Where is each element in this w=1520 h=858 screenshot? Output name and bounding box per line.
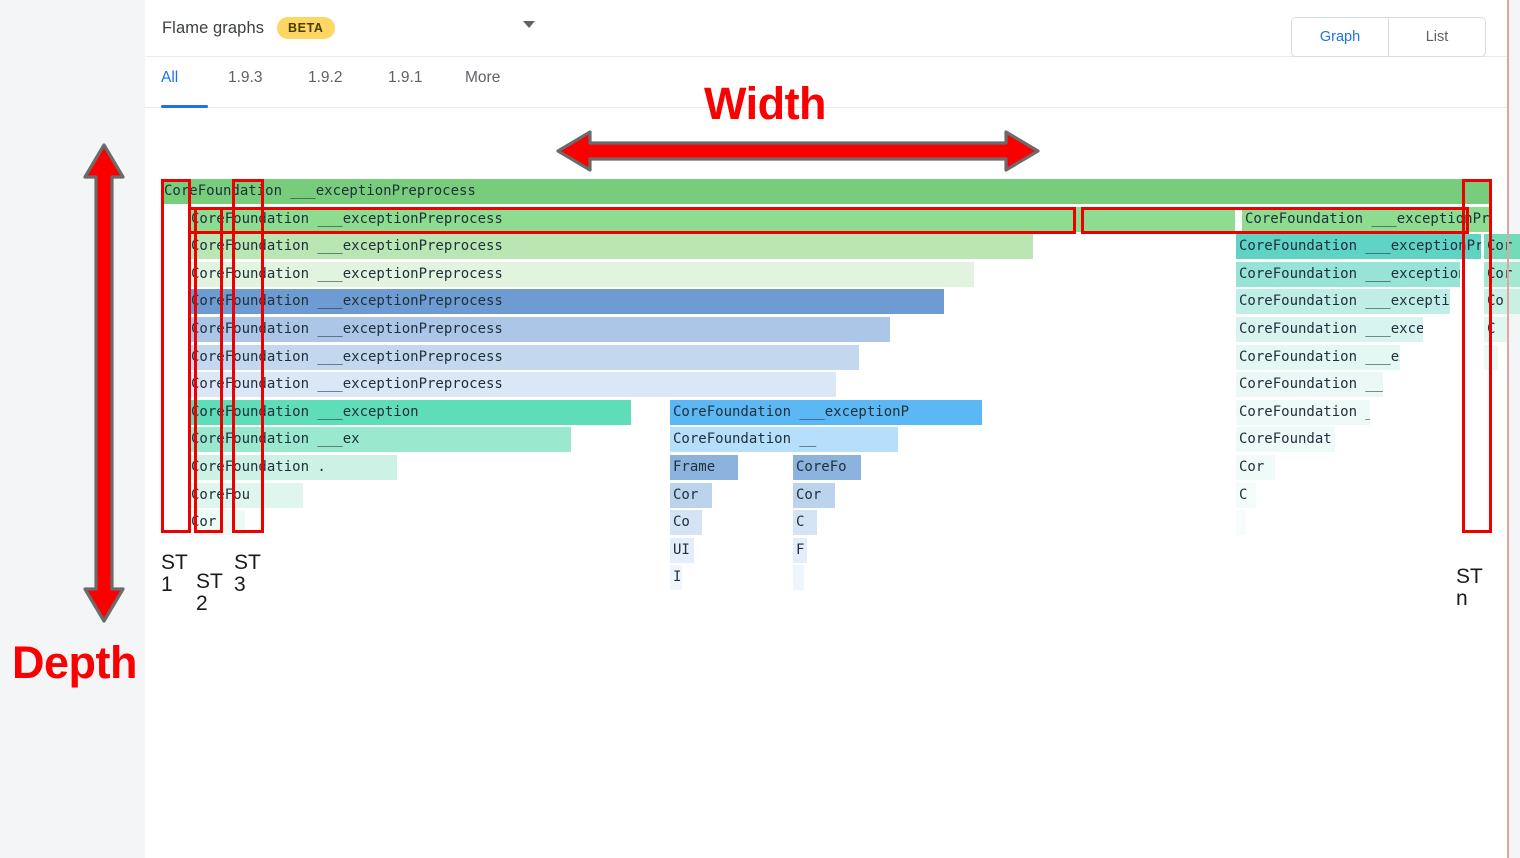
stack-trace-label-line1: ST [1456,566,1483,588]
stack-trace-label-line1: ST [234,552,261,574]
flame-frame[interactable]: CoreFoundation ___exceptionPreprocess [188,372,836,397]
flame-frame[interactable] [1236,510,1246,535]
flame-frame[interactable]: CoreFoundation ___exc [1236,345,1400,370]
flame-frame[interactable]: Cor [188,510,245,535]
flame-frame[interactable]: CoreFoundation ___exceptionPreprocess [188,262,974,287]
depth-annotation-label: Depth [12,637,137,689]
view-toggle-list[interactable]: List [1388,18,1485,56]
view-mode-toggle[interactable]: GraphList [1291,17,1486,57]
flame-frame[interactable]: CoreFoundation ___exceptionPreprocess [188,207,1235,232]
flame-frame[interactable]: Cor [793,483,835,508]
stack-trace-label-line2: 2 [196,593,223,615]
stack-trace-label-line2: n [1456,588,1483,610]
flame-frame[interactable]: CoreFoundation ___exceptionP [670,400,982,425]
flame-frame[interactable]: C [793,510,817,535]
flame-frame[interactable]: CoreFoundation . [188,455,397,480]
stack-trace-label-line1: ST [161,552,188,574]
flame-frame[interactable]: CoreFoundation ___exceptionPreprocess [1242,207,1491,232]
flame-frame[interactable]: CoreFoundation ___ex [188,427,571,452]
flame-frame[interactable]: CoreFoundation ___exceptionPreprocess [161,179,1491,204]
tab-1-9-1[interactable]: 1.9.1 [388,69,422,107]
stack-trace-label-line2: 3 [234,574,261,596]
flame-frame[interactable]: I [670,565,682,590]
width-annotation-label: Width [704,78,826,130]
flame-frame[interactable]: Cor [1484,262,1520,287]
flame-frame[interactable]: C [1236,483,1256,508]
flame-frame[interactable]: CoreFoundation ___exception [1236,262,1460,287]
stack-trace-label-line1: ST [196,571,223,593]
beta-badge: BETA [277,17,335,39]
flame-frame[interactable]: Cor [1236,455,1275,480]
flame-frame[interactable]: CoreFoundation ___e [1236,372,1383,397]
flame-frame[interactable]: CoreFo [793,455,861,480]
tab-1-9-3[interactable]: 1.9.3 [228,69,262,107]
flame-frame[interactable]: CoreFoundation ___except [1236,317,1423,342]
flame-frame[interactable]: CoreFou [188,483,303,508]
flame-frame[interactable]: CoreFoundation __ [670,427,898,452]
right-edge-rule [1507,0,1509,858]
tabs-bar: All1.9.31.9.21.9.1More [145,57,1508,108]
flame-frame[interactable]: CoreFoundation ___exceptionPreprocess [188,345,859,370]
stack-trace-label: ST2 [196,571,223,615]
flame-graph-canvas[interactable]: CoreFoundation ___exceptionPreprocessCor… [161,179,1491,599]
view-toggle-graph[interactable]: Graph [1292,18,1388,56]
tab-all[interactable]: All [161,69,178,107]
flame-frame[interactable]: CoreFoundation ___exceptionPreprocess [188,317,890,342]
flame-frame[interactable]: CoreFoundation ___exceptionPrepr [1236,234,1481,259]
flame-frame[interactable] [793,565,804,590]
flame-frame[interactable]: CoreFoundation ___exceptionPreprocess [188,289,944,314]
flame-frame[interactable]: UI [670,538,694,563]
flame-frame[interactable]: C [1484,317,1508,342]
tab-more[interactable]: More [465,69,500,107]
flame-frame[interactable]: F [793,538,807,563]
chevron-down-icon[interactable] [523,21,535,28]
flame-frame[interactable]: CoreFoundation ___exception [188,400,631,425]
flame-frame[interactable]: Cor [1484,234,1520,259]
stack-trace-label: ST3 [234,552,261,596]
active-tab-underline [161,105,208,108]
flame-frame[interactable]: Co [670,510,702,535]
depth-double-arrow-icon [82,143,126,623]
page-title: Flame graphs [162,19,264,38]
flame-frame[interactable]: Co [1484,289,1520,314]
flame-frame[interactable]: CoreFoundation _ [1236,400,1370,425]
tab-1-9-2[interactable]: 1.9.2 [308,69,342,107]
stack-trace-label: STn [1456,566,1483,610]
width-double-arrow-icon [556,128,1040,174]
flame-frame[interactable]: CoreFoundation ___exception [1236,289,1450,314]
flame-frame[interactable]: CoreFoundat [1236,427,1335,452]
stack-trace-label: ST1 [161,552,188,596]
flame-frame[interactable] [1484,345,1498,370]
flame-frame[interactable]: CoreFoundation ___exceptionPreprocess [188,234,1033,259]
flame-frame[interactable]: Cor [670,483,712,508]
stack-trace-label-line2: 1 [161,574,188,596]
flame-frame[interactable]: Frame [670,455,738,480]
